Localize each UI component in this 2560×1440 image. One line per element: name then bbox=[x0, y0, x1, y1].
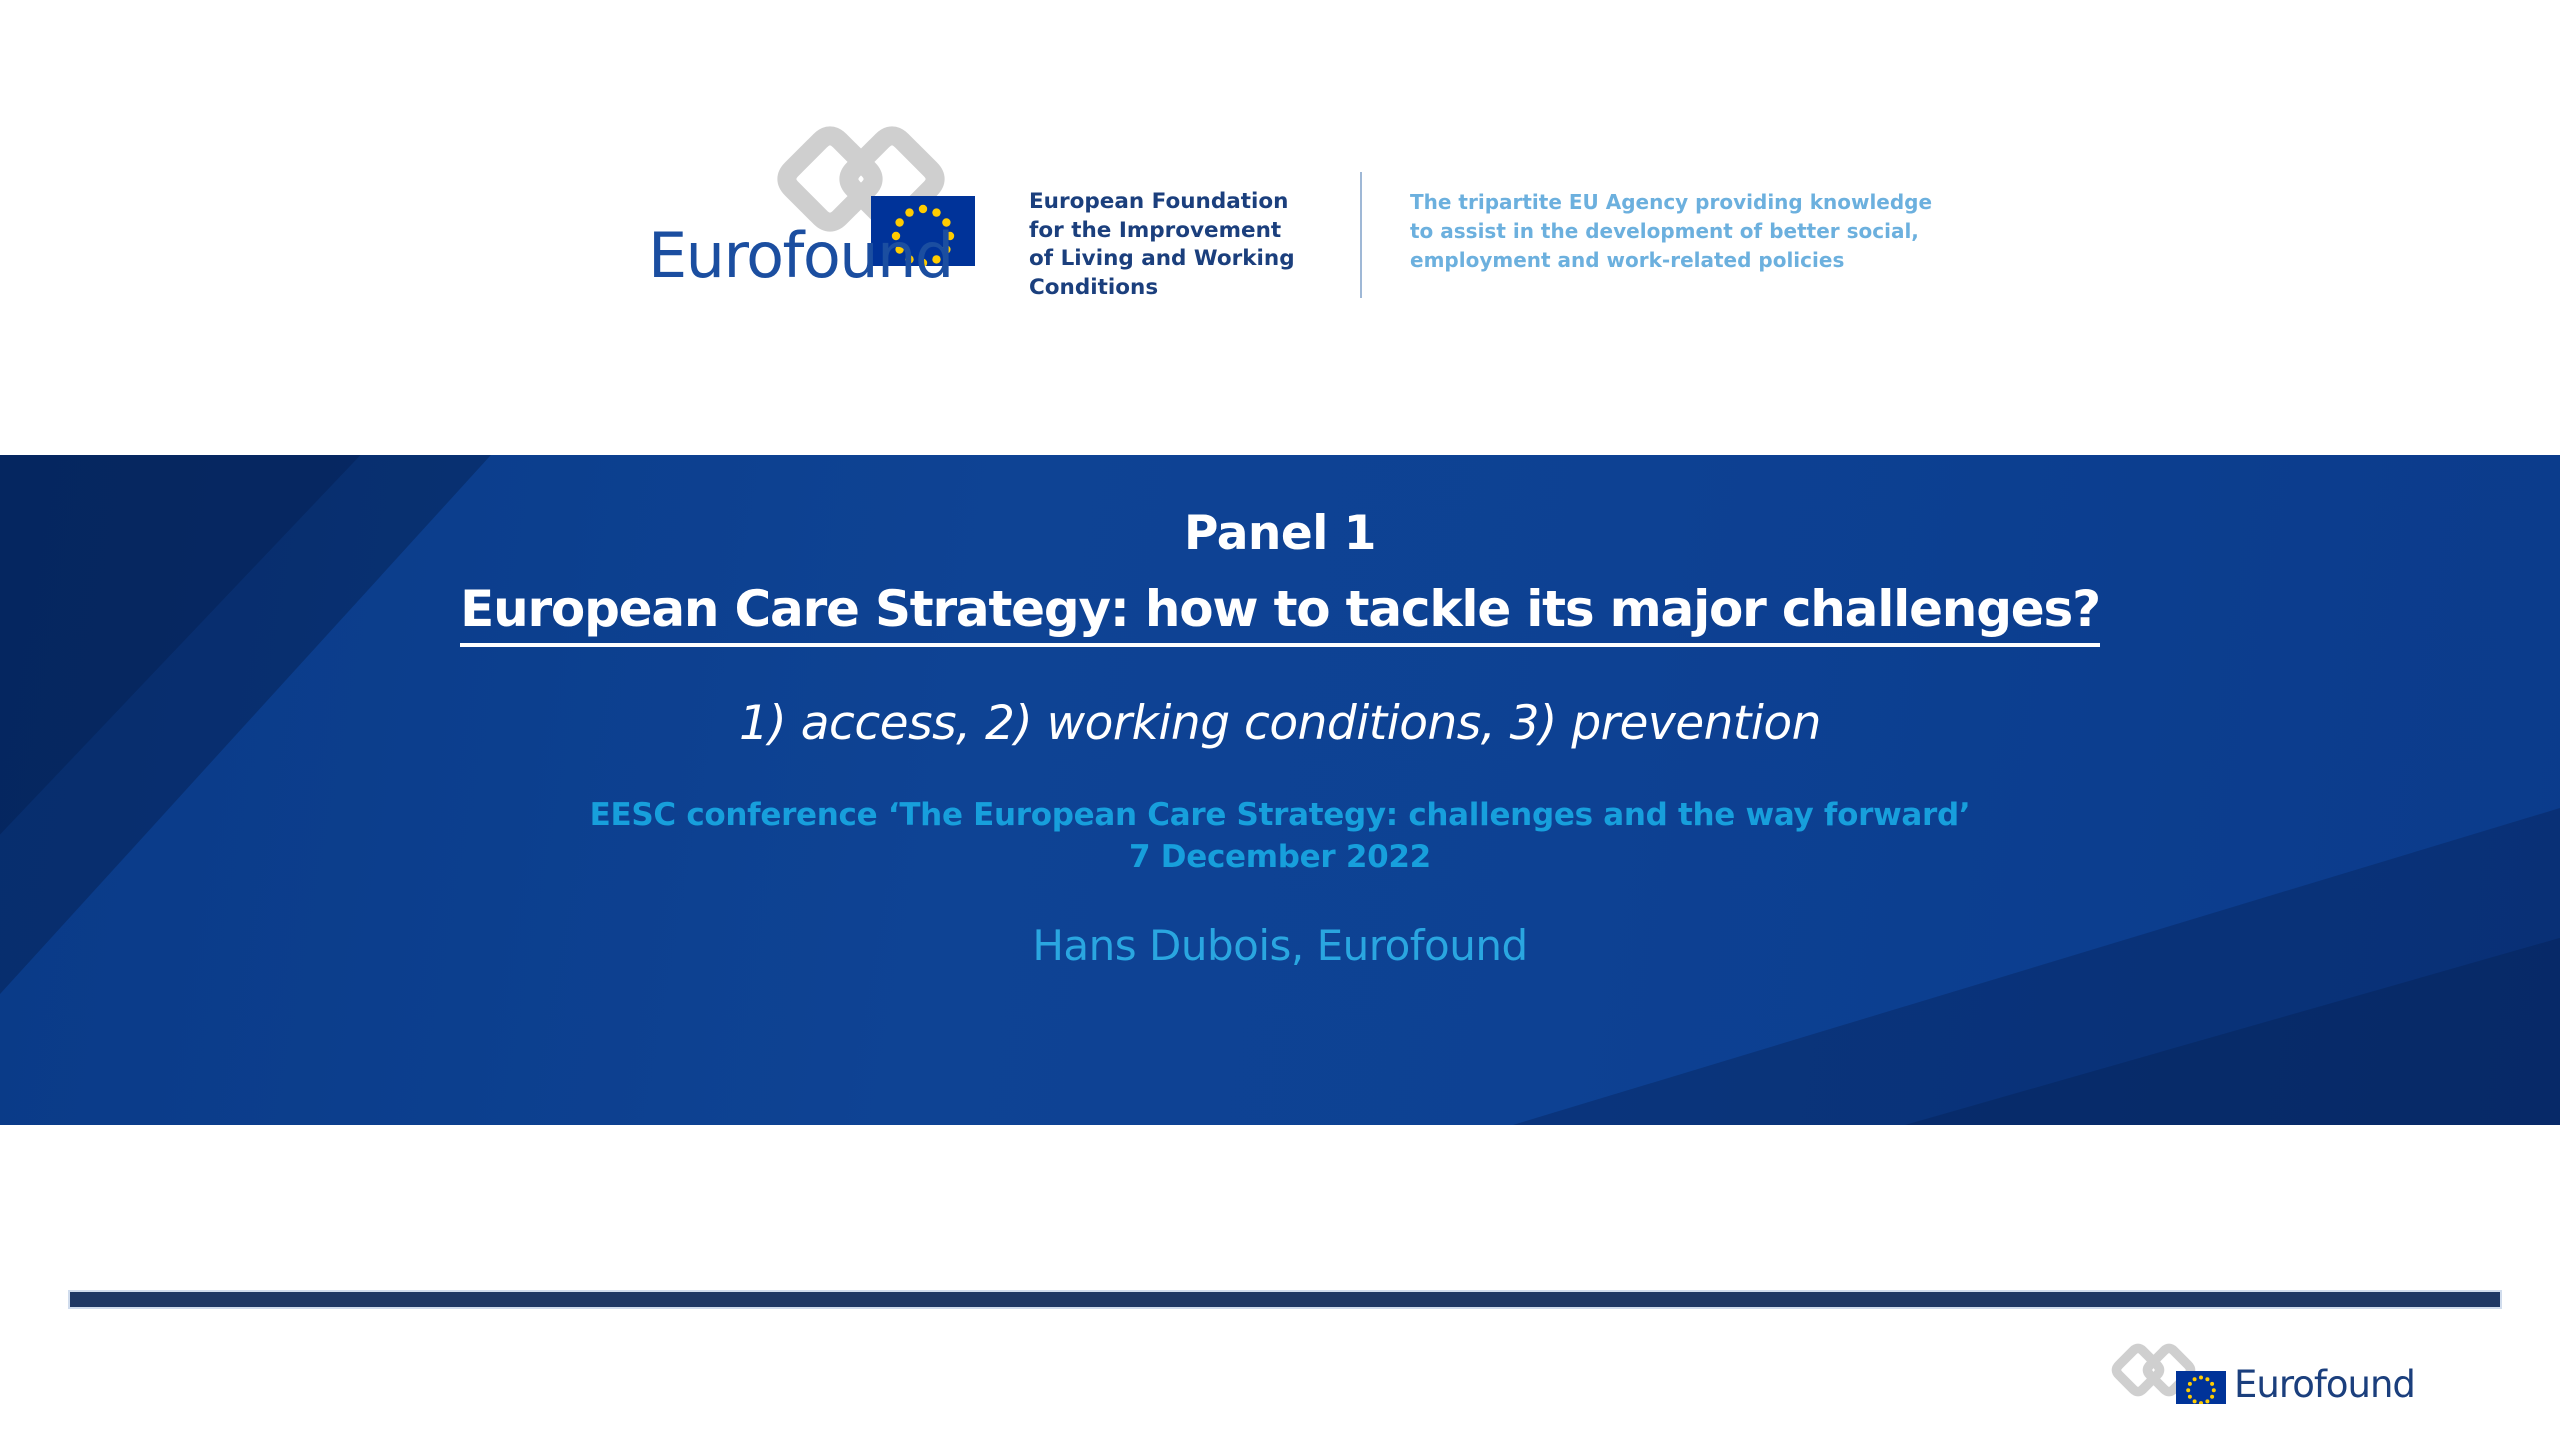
eu-flag-icon bbox=[2176, 1371, 2226, 1404]
slide-root: Eurofound European Foundation for the Im… bbox=[0, 0, 2560, 1440]
tagline-primary-line: of Living and Working bbox=[1029, 245, 1329, 274]
tagline-primary-line: Conditions bbox=[1029, 274, 1329, 303]
title-band: Panel 1 European Care Strategy: how to t… bbox=[0, 455, 2560, 1125]
logo-tagline-secondary: The tripartite EU Agency providing knowl… bbox=[1410, 188, 1970, 275]
tagline-secondary-line: to assist in the development of better s… bbox=[1410, 217, 1970, 246]
eurofound-wordmark: Eurofound bbox=[2234, 1366, 2415, 1403]
footer-divider-rule bbox=[70, 1292, 2500, 1307]
page-title: European Care Strategy: how to tackle it… bbox=[0, 582, 2560, 637]
tagline-primary-line: European Foundation bbox=[1029, 188, 1329, 217]
subtitle-topics: 1) access, 2) working conditions, 3) pre… bbox=[0, 700, 2560, 747]
conference-info: EESC conference ‘The European Care Strat… bbox=[0, 795, 2560, 879]
eurofound-header-logo: Eurofound European Foundation for the Im… bbox=[648, 120, 1928, 310]
panel-label: Panel 1 bbox=[0, 510, 2560, 557]
page-title-text: European Care Strategy: how to tackle it… bbox=[460, 580, 2100, 647]
logo-tagline-primary: European Foundation for the Improvement … bbox=[1029, 188, 1329, 302]
logo-vertical-divider bbox=[1360, 172, 1362, 298]
eurofound-wordmark: Eurofound bbox=[648, 225, 953, 287]
speaker-name: Hans Dubois, Eurofound bbox=[0, 925, 2560, 967]
band-content: Panel 1 European Care Strategy: how to t… bbox=[0, 455, 2560, 1125]
conference-date: 7 December 2022 bbox=[0, 837, 2560, 879]
eurofound-logo-lockup: Eurofound bbox=[648, 120, 998, 310]
conference-name: EESC conference ‘The European Care Strat… bbox=[0, 795, 2560, 837]
tagline-secondary-line: The tripartite EU Agency providing knowl… bbox=[1410, 188, 1970, 217]
tagline-primary-line: for the Improvement bbox=[1029, 217, 1329, 246]
tagline-secondary-line: employment and work-related policies bbox=[1410, 246, 1970, 275]
eurofound-footer-logo: Eurofound bbox=[2098, 1343, 2428, 1423]
